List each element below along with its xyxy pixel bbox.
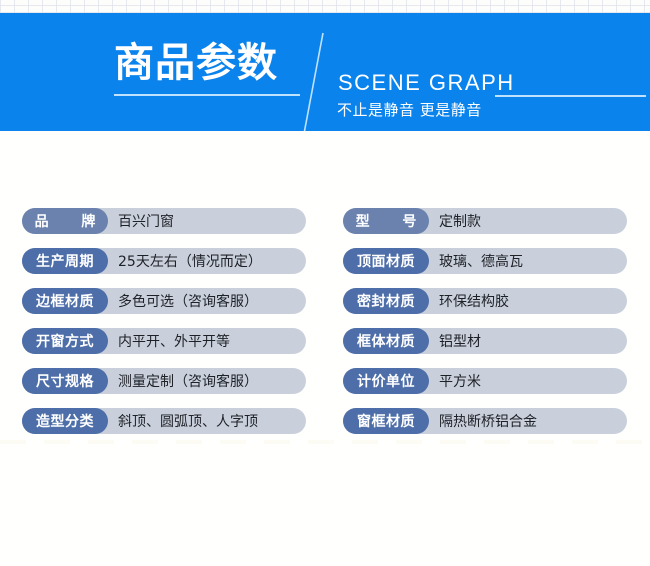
spec-value: 平方米 — [429, 371, 627, 391]
spec-label: 造型分类 — [22, 408, 108, 434]
table-row: 品 牌 百兴门窗 — [22, 208, 306, 234]
table-row: 边框材质 多色可选（咨询客服） — [22, 288, 306, 314]
table-row: 尺寸规格 测量定制（咨询客服） — [22, 368, 306, 394]
banner-subtitle-en: SCENE GRAPH — [338, 70, 515, 96]
spec-value: 定制款 — [429, 211, 627, 231]
spec-label: 生产周期 — [22, 248, 108, 274]
spec-value: 25天左右（情况而定） — [108, 251, 306, 271]
subtitle-underline-rule — [495, 95, 646, 97]
diagonal-divider-icon — [300, 31, 326, 131]
spec-label: 密封材质 — [343, 288, 429, 314]
page-title: 商品参数 — [114, 38, 278, 88]
spec-value: 斜顶、圆弧顶、人字顶 — [108, 411, 306, 431]
title-underline-rule — [114, 94, 300, 96]
spec-value: 测量定制（咨询客服） — [108, 371, 306, 391]
spec-label: 型 号 — [343, 208, 429, 234]
table-row: 型 号 定制款 — [343, 208, 627, 234]
spec-label: 框体材质 — [343, 328, 429, 354]
page-banner: 商品参数 SCENE GRAPH 不止是静音 更是静音 — [0, 13, 650, 131]
table-row: 开窗方式 内平开、外平开等 — [22, 328, 306, 354]
table-row: 密封材质 环保结构胶 — [343, 288, 627, 314]
bottom-grid-texture — [0, 440, 650, 444]
spec-value: 多色可选（咨询客服） — [108, 291, 306, 311]
spec-value: 隔热断桥铝合金 — [429, 411, 627, 431]
spec-label: 顶面材质 — [343, 248, 429, 274]
spec-value: 玻璃、德高瓦 — [429, 251, 627, 271]
spec-label: 尺寸规格 — [22, 368, 108, 394]
table-row: 框体材质 铝型材 — [343, 328, 627, 354]
spec-label: 窗框材质 — [343, 408, 429, 434]
table-row: 造型分类 斜顶、圆弧顶、人字顶 — [22, 408, 306, 434]
spec-value: 内平开、外平开等 — [108, 331, 306, 351]
table-row: 生产周期 25天左右（情况而定） — [22, 248, 306, 274]
table-row: 窗框材质 隔热断桥铝合金 — [343, 408, 627, 434]
spec-value: 铝型材 — [429, 331, 627, 351]
banner-subtitle-cn: 不止是静音 更是静音 — [337, 100, 482, 120]
spec-label: 品 牌 — [22, 208, 108, 234]
spec-label: 计价单位 — [343, 368, 429, 394]
spec-label: 边框材质 — [22, 288, 108, 314]
spec-value: 百兴门窗 — [108, 211, 306, 231]
table-row: 计价单位 平方米 — [343, 368, 627, 394]
spec-value: 环保结构胶 — [429, 291, 627, 311]
table-row: 顶面材质 玻璃、德高瓦 — [343, 248, 627, 274]
spec-label: 开窗方式 — [22, 328, 108, 354]
top-grid-texture — [0, 0, 650, 13]
